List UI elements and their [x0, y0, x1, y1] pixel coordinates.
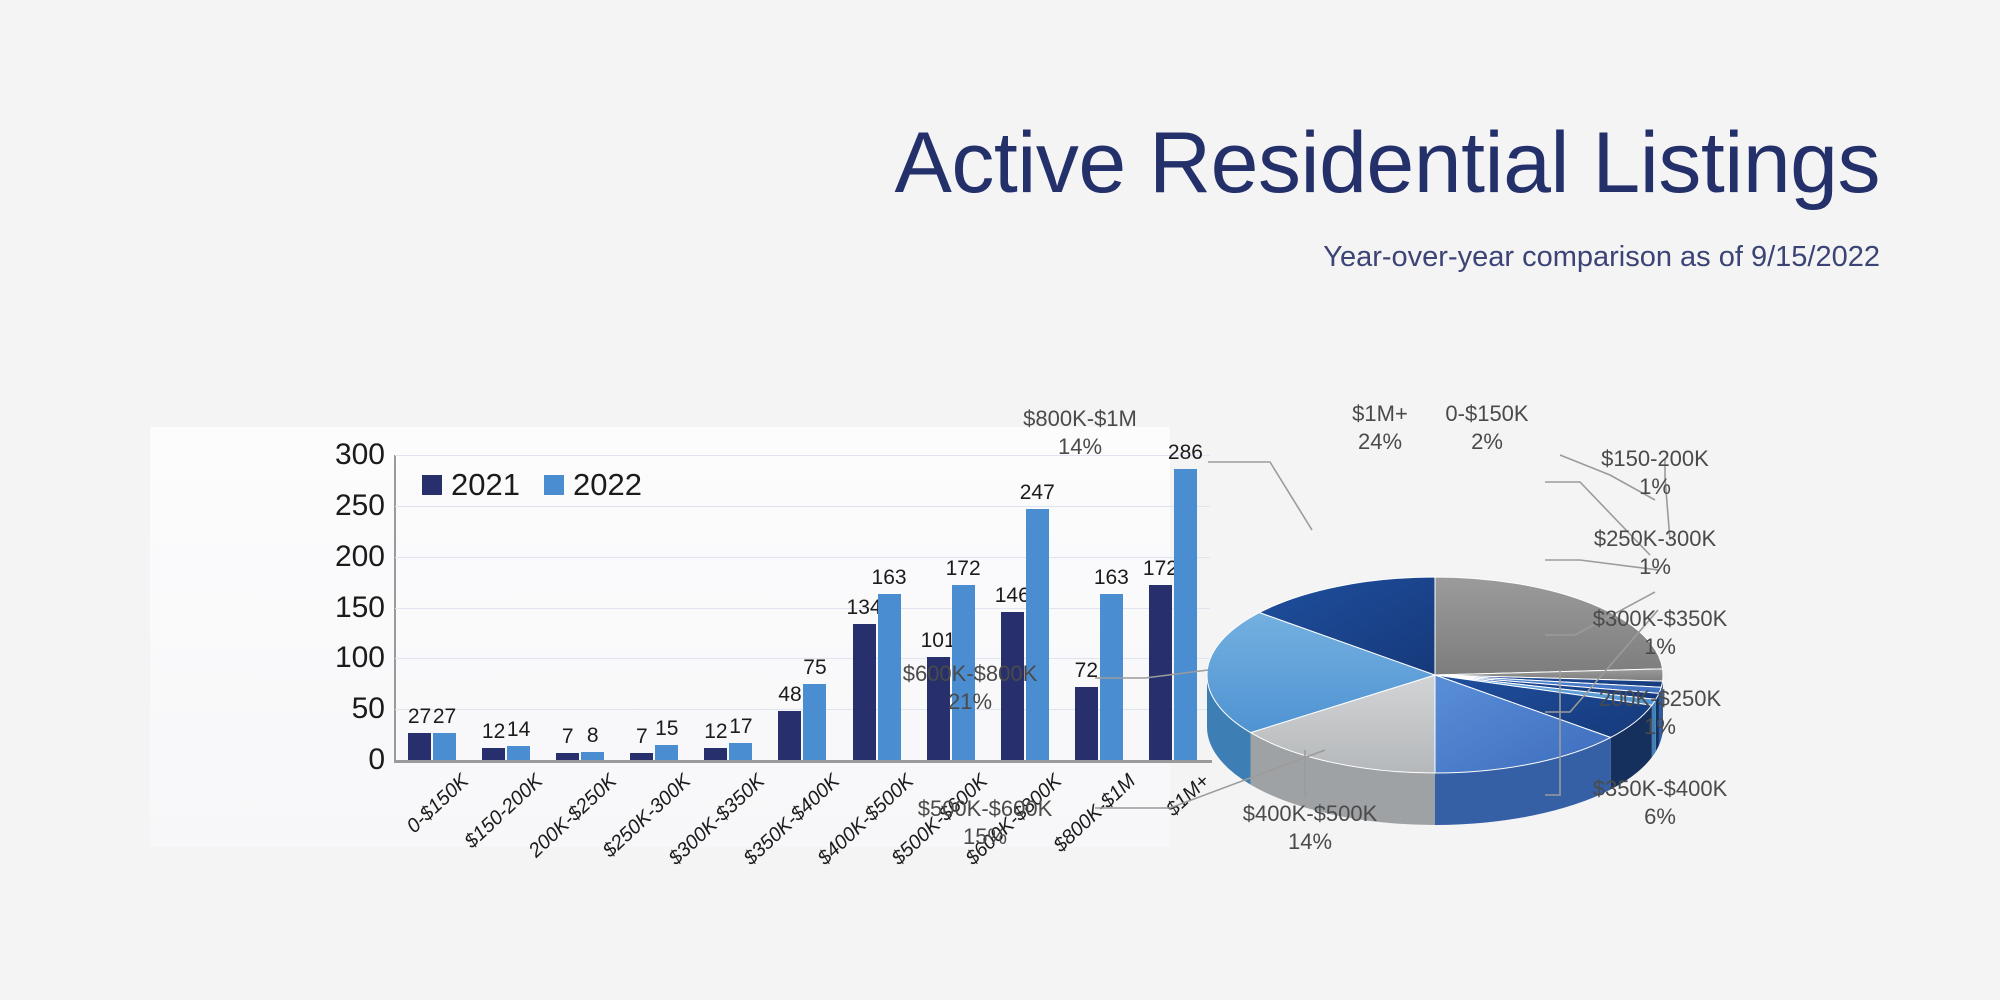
bar-value-label: 8 [569, 725, 616, 746]
y-axis-tick: 50 [305, 694, 385, 724]
bar-2022[interactable] [803, 684, 826, 760]
pie-label-name: $600K-$800K [860, 660, 1080, 688]
pie-leader-line [1095, 670, 1208, 678]
pie-label-p_350_400: $350K-$400K6% [1550, 775, 1770, 831]
bar-2021[interactable] [482, 748, 505, 760]
y-axis-tick: 300 [305, 440, 385, 470]
page-title: Active Residential Listings [0, 115, 1880, 211]
bar-2022[interactable] [729, 743, 752, 760]
pie-leader-line [1208, 462, 1312, 530]
infographic-canvas: Active Residential Listings Year-over-ye… [0, 0, 2000, 1000]
bar-2021[interactable] [704, 748, 727, 760]
bar-chart-legend: 20212022 [422, 469, 642, 500]
bar-2022[interactable] [655, 745, 678, 760]
bar-value-label: 247 [1014, 482, 1061, 503]
pie-label-p_800_1m: $800K-$1M14% [960, 405, 1200, 461]
pie-label-percent: 1% [1550, 473, 1760, 501]
bar-2022[interactable] [581, 752, 604, 760]
pie-label-name: $500K-$600K [875, 795, 1095, 823]
y-axis-tick: 0 [305, 745, 385, 775]
pie-label-name: $400K-$500K [1195, 800, 1425, 828]
pie-label-p_600_800: $600K-$800K21% [860, 660, 1080, 716]
y-axis-tick: 250 [305, 491, 385, 521]
pie-label-p_500_600: $500K-$600K15% [875, 795, 1095, 851]
header: Active Residential Listings Year-over-ye… [0, 0, 2000, 300]
legend-item-2021[interactable]: 2021 [422, 469, 520, 500]
y-axis-ticks: 300250200150100500 [290, 425, 385, 785]
pie-label-percent: 15% [875, 823, 1095, 851]
pie-label-name: 200K-$250K [1550, 685, 1770, 713]
bar-value-label: 27 [421, 706, 468, 727]
y-axis-tick: 100 [305, 643, 385, 673]
bar-value-label: 163 [866, 567, 913, 588]
pie-label-percent: 1% [1550, 713, 1770, 741]
bar-2021[interactable] [556, 753, 579, 760]
pie-label-percent: 2% [1412, 428, 1562, 456]
legend-swatch-icon [422, 475, 442, 495]
pie-label-name: $350K-$400K [1550, 775, 1770, 803]
bar-2021[interactable] [778, 711, 801, 760]
legend-label: 2021 [451, 469, 520, 500]
pie-label-name: $150-200K [1550, 445, 1760, 473]
pie-label-name: 0-$150K [1412, 400, 1562, 428]
pie-label-name: $800K-$1M [960, 405, 1200, 433]
pie-label-p_150_200: $150-200K1% [1550, 445, 1760, 501]
pie-label-percent: 14% [960, 433, 1200, 461]
bar-value-label: 172 [940, 558, 987, 579]
pie-label-percent: 1% [1550, 633, 1770, 661]
bar-group: 4875 [765, 455, 839, 760]
pie-label-p_400_500: $400K-$500K14% [1195, 800, 1425, 856]
y-axis-tick: 200 [305, 542, 385, 572]
page-subtitle: Year-over-year comparison as of 9/15/202… [0, 240, 1880, 274]
pie-chart: $1M+24%0-$150K2%$150-200K1%$250K-300K1%$… [1090, 420, 1970, 920]
bar-group: 1217 [691, 455, 765, 760]
pie-label-percent: 6% [1550, 803, 1770, 831]
legend-item-2022[interactable]: 2022 [544, 469, 642, 500]
bar-value-label: 17 [717, 716, 764, 737]
legend-label: 2022 [573, 469, 642, 500]
bar-2021[interactable] [408, 733, 431, 760]
x-axis-label: 0-$150K [403, 770, 474, 838]
y-axis-tick: 150 [305, 593, 385, 623]
pie-label-percent: 21% [860, 688, 1080, 716]
pie-label-p_250_300: $250K-300K1% [1550, 525, 1760, 581]
pie-label-name: $250K-300K [1550, 525, 1760, 553]
pie-label-p_0_150: 0-$150K2% [1412, 400, 1562, 456]
bar-value-label: 14 [495, 719, 542, 740]
pie-label-p_300_350: $300K-$350K1% [1550, 605, 1770, 661]
bar-value-label: 75 [791, 657, 838, 678]
bar-2022[interactable] [1026, 509, 1049, 760]
bar-value-label: 15 [643, 718, 690, 739]
pie-label-name: $300K-$350K [1550, 605, 1770, 633]
legend-swatch-icon [544, 475, 564, 495]
bar-2021[interactable] [630, 753, 653, 760]
pie-label-p_200_250: 200K-$250K1% [1550, 685, 1770, 741]
bar-2022[interactable] [507, 746, 530, 760]
pie-label-percent: 1% [1550, 553, 1760, 581]
pie-label-percent: 14% [1195, 828, 1425, 856]
bar-2022[interactable] [433, 733, 456, 760]
